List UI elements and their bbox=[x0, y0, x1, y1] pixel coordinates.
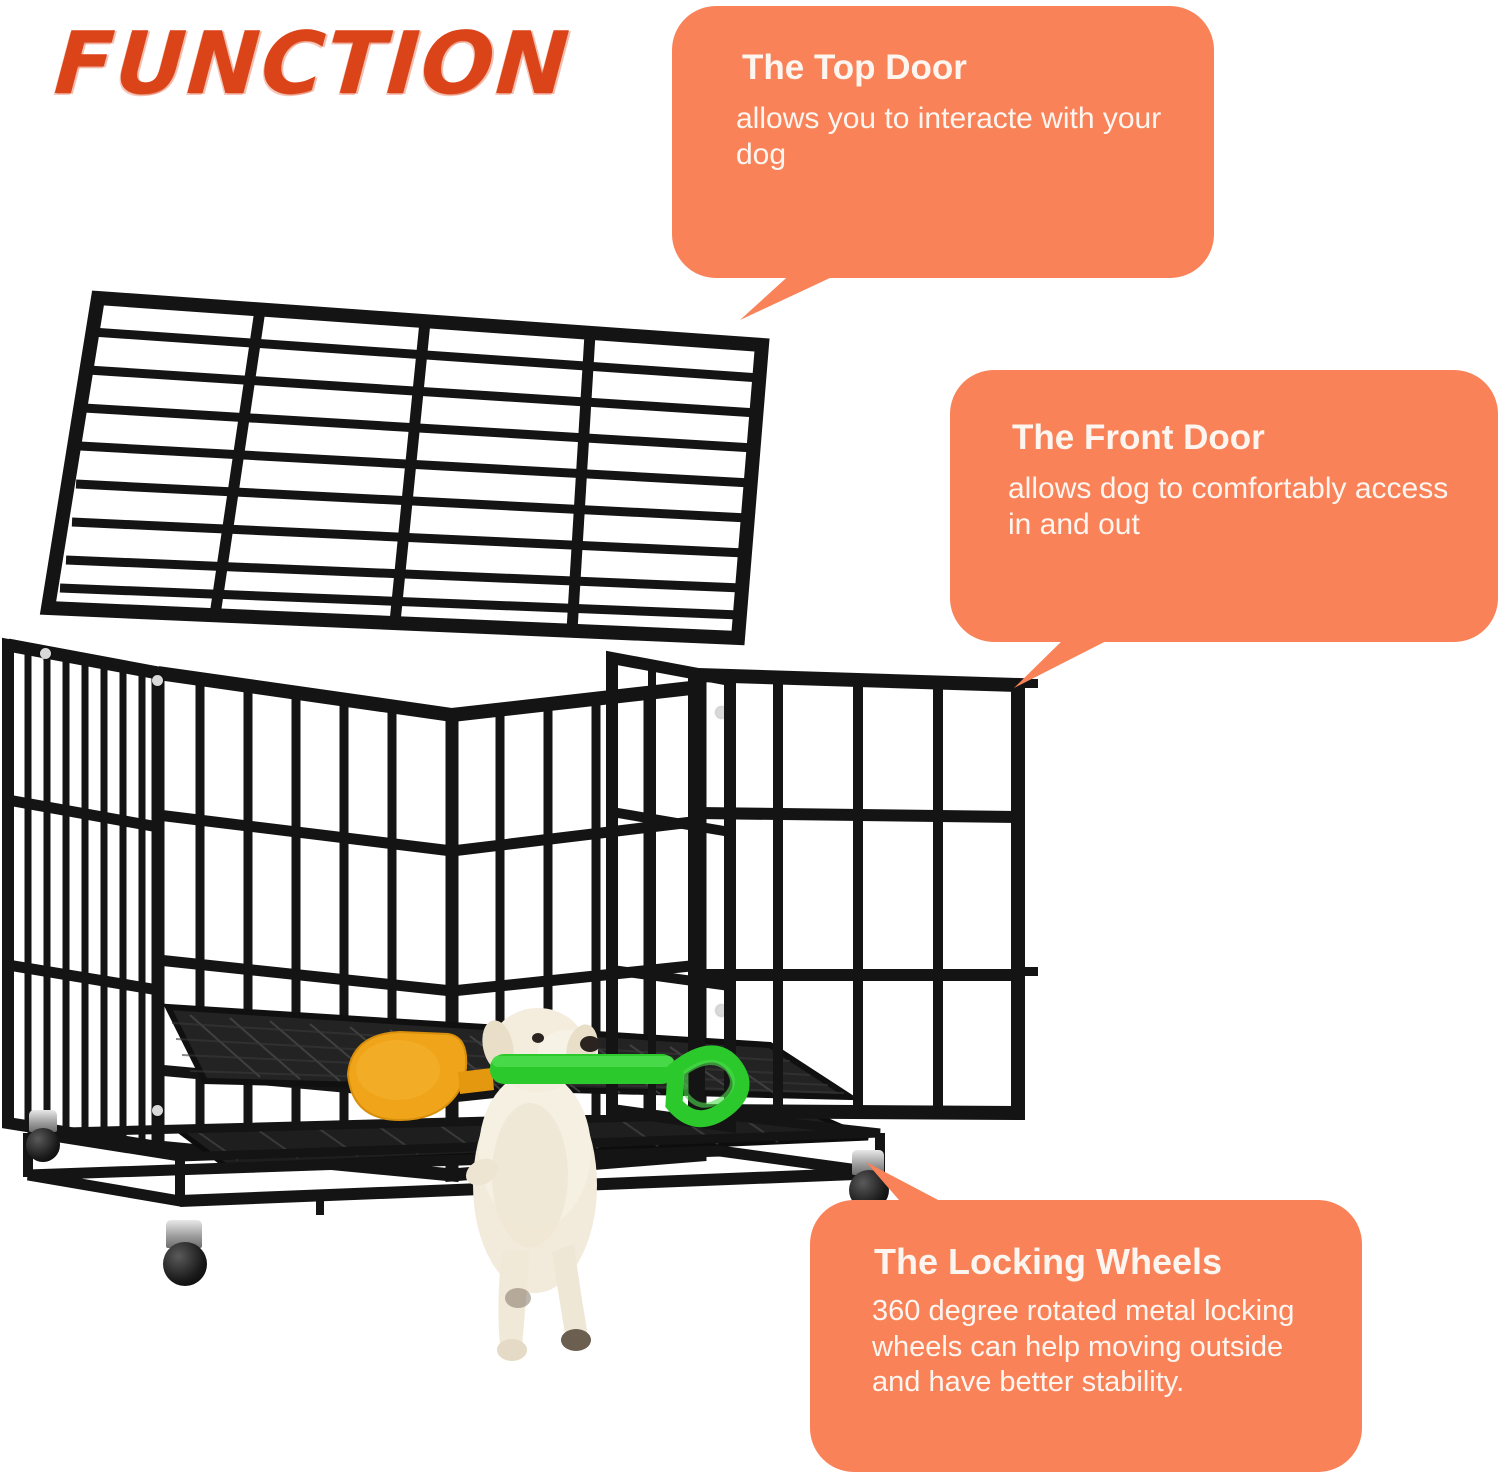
infographic-canvas: FUNCTION bbox=[0, 0, 1500, 1484]
callout-locking-wheels-body: 360 degree rotated metal locking wheels … bbox=[872, 1294, 1338, 1400]
caster-wheel-front-left[interactable] bbox=[150, 1220, 220, 1300]
caster-wheel-back-left[interactable] bbox=[15, 1110, 75, 1180]
callout-front-door: The Front Door allows dog to comfortably… bbox=[950, 370, 1498, 642]
callout-front-door-heading: The Front Door bbox=[1012, 418, 1474, 457]
callout-front-door-body: allows dog to comfortably access in and … bbox=[1008, 471, 1474, 543]
callout-locking-wheels-heading: The Locking Wheels bbox=[874, 1242, 1338, 1282]
callout-top-door: The Top Door allows you to interacte wit… bbox=[672, 6, 1214, 278]
callout-top-door-heading: The Top Door bbox=[742, 48, 1184, 87]
callout-front-door-tail bbox=[1010, 632, 1130, 694]
callout-top-door-tail bbox=[735, 268, 855, 328]
callout-top-door-body: allows you to interacte with your dog bbox=[736, 101, 1184, 173]
top-door-panel[interactable] bbox=[20, 270, 770, 650]
body-rivet-top bbox=[152, 675, 163, 686]
body-rivet-left bbox=[40, 648, 51, 659]
page-title: FUNCTION bbox=[52, 14, 574, 114]
toy-shovel bbox=[340, 1022, 740, 1132]
callout-locking-wheels-tail bbox=[862, 1158, 1002, 1228]
callout-locking-wheels: The Locking Wheels 360 degree rotated me… bbox=[810, 1200, 1362, 1472]
body-rivet-mid bbox=[152, 1105, 163, 1116]
